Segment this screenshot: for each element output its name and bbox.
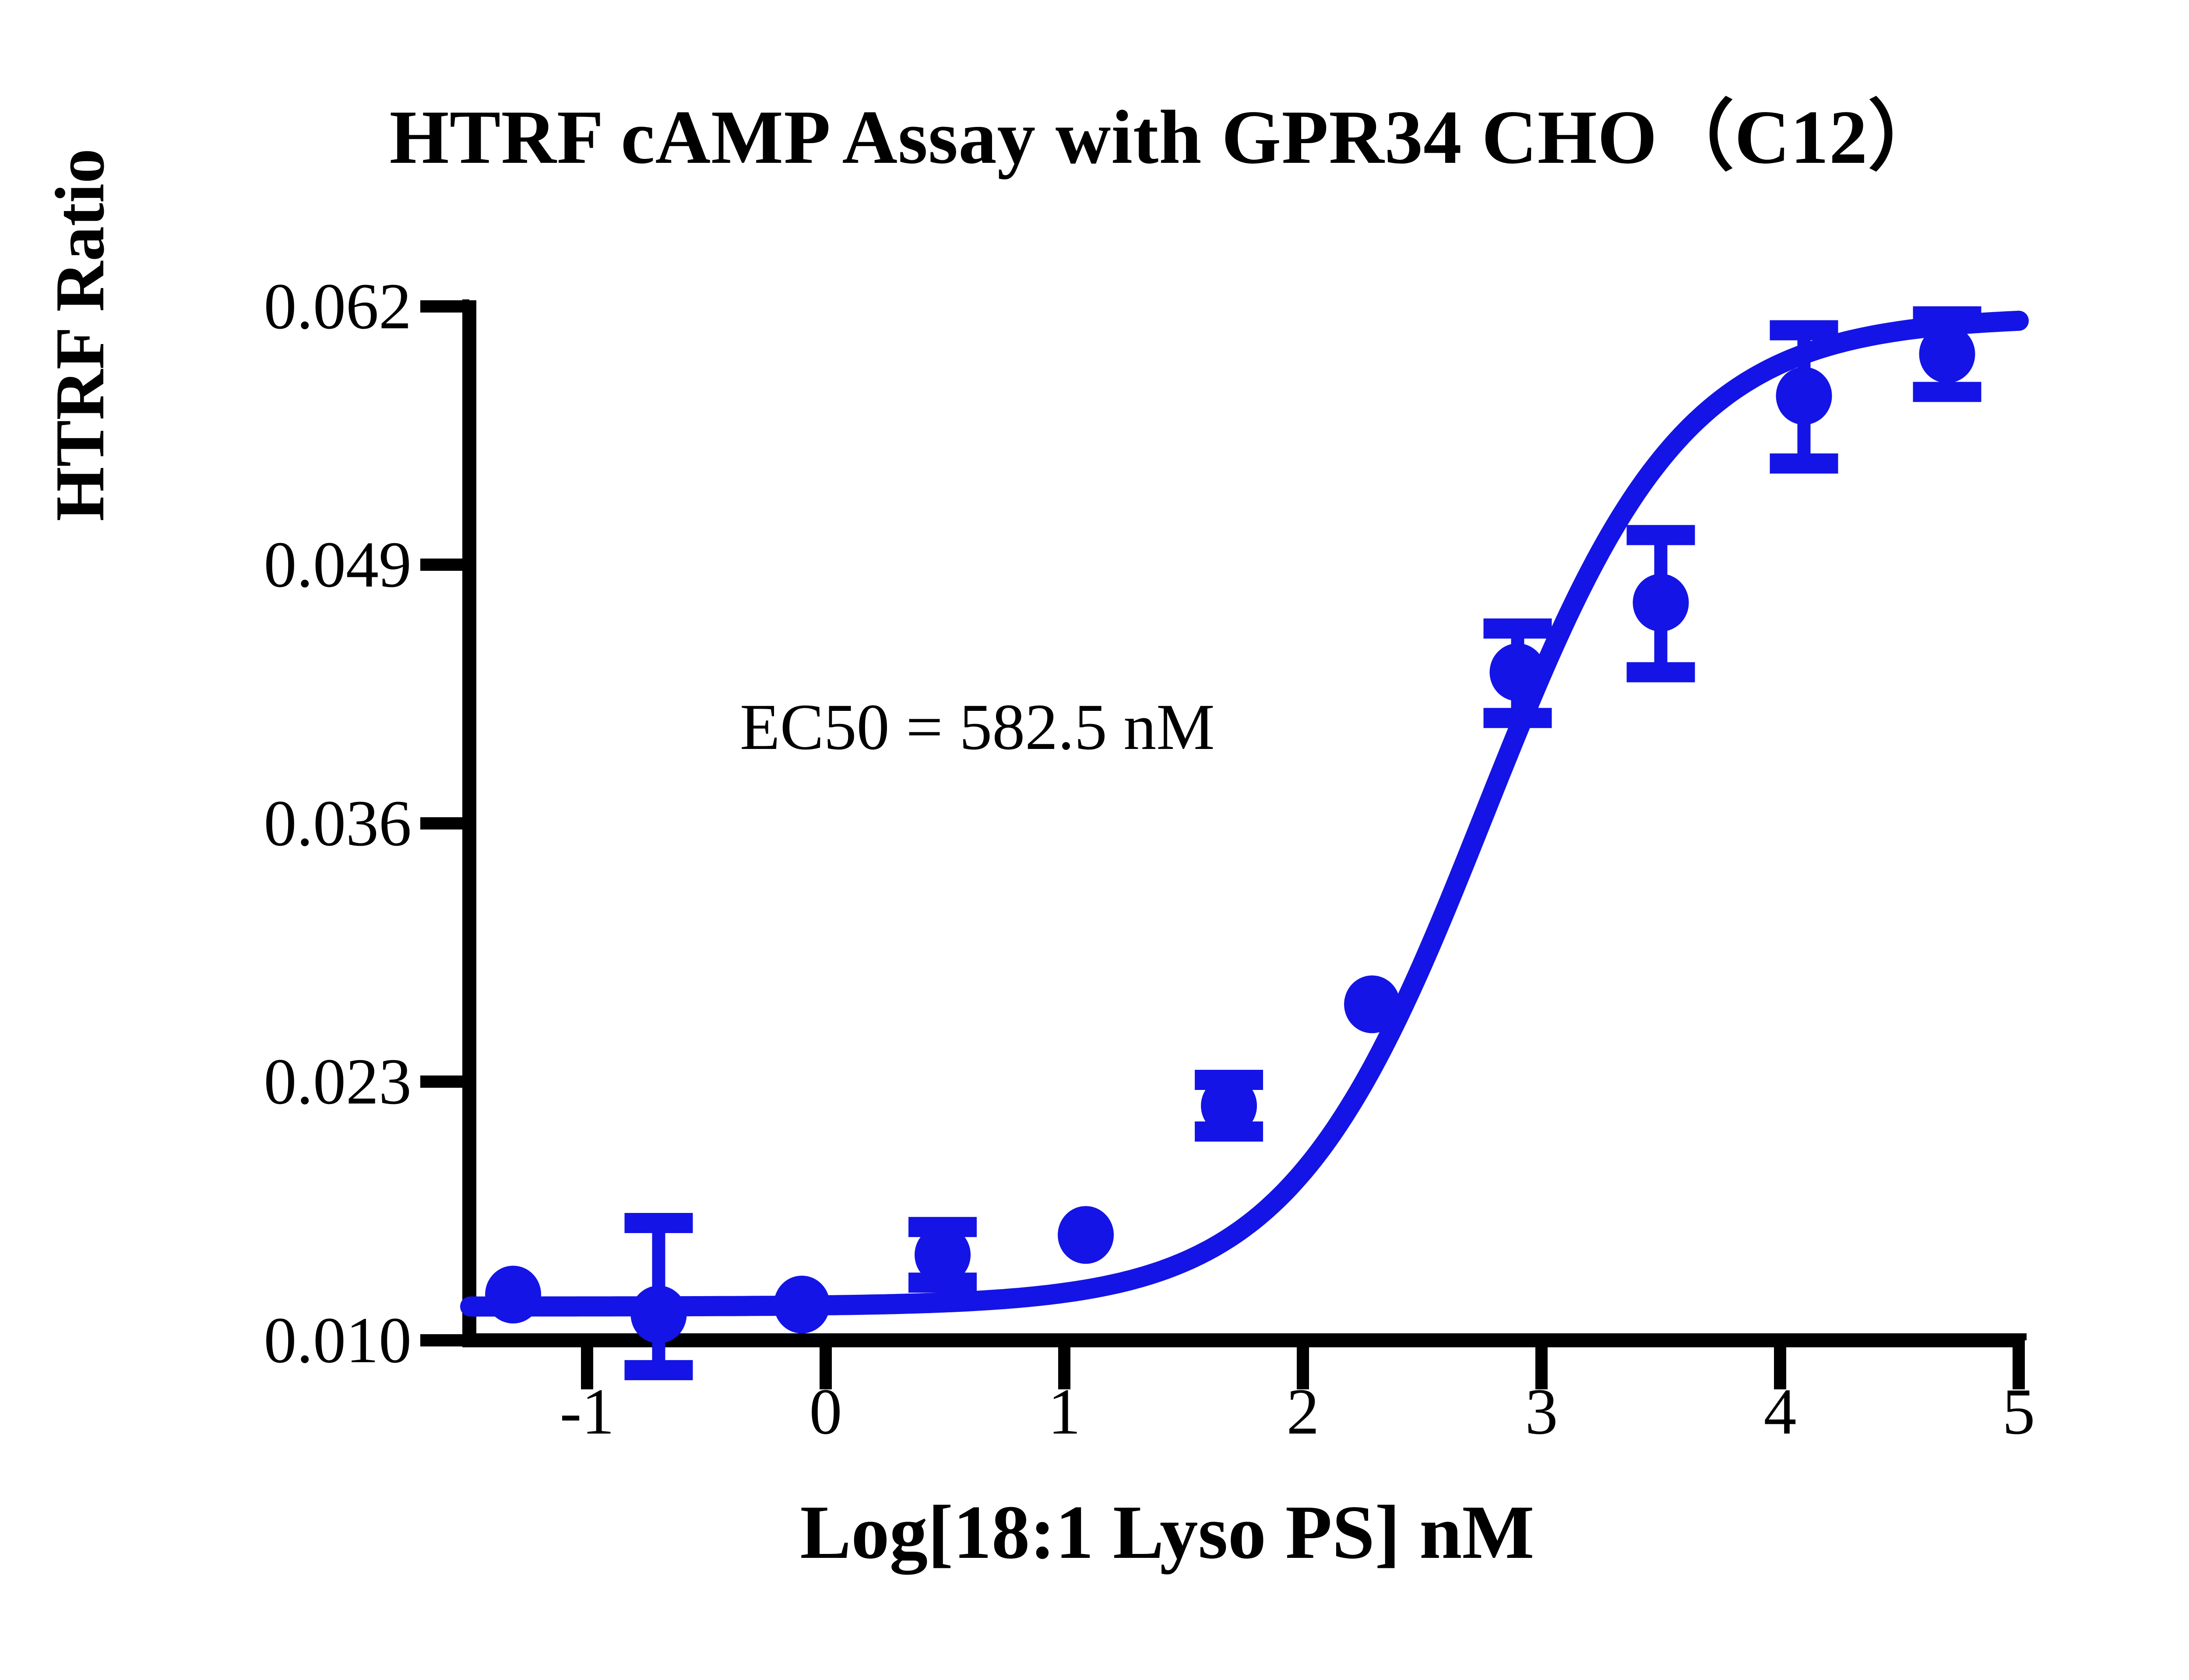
data-point — [1201, 1077, 1257, 1135]
x-tick-marks — [587, 1340, 2019, 1389]
data-point — [631, 1286, 687, 1343]
data-point — [1344, 975, 1400, 1033]
chart-figure: HTRF cAMP Assay with GPR34 CHO（C12） HTRF… — [0, 0, 2189, 1680]
data-point — [1490, 643, 1546, 701]
data-point — [774, 1276, 830, 1333]
data-point — [915, 1226, 971, 1284]
y-tick-marks — [420, 306, 469, 1340]
data-point — [1776, 367, 1832, 425]
data-point — [485, 1266, 541, 1324]
data-point — [1919, 325, 1975, 383]
plot-area — [0, 0, 2189, 1680]
data-points — [485, 325, 1975, 1343]
data-point — [1058, 1206, 1114, 1264]
data-point — [1633, 574, 1689, 632]
error-bars — [625, 316, 1981, 1370]
